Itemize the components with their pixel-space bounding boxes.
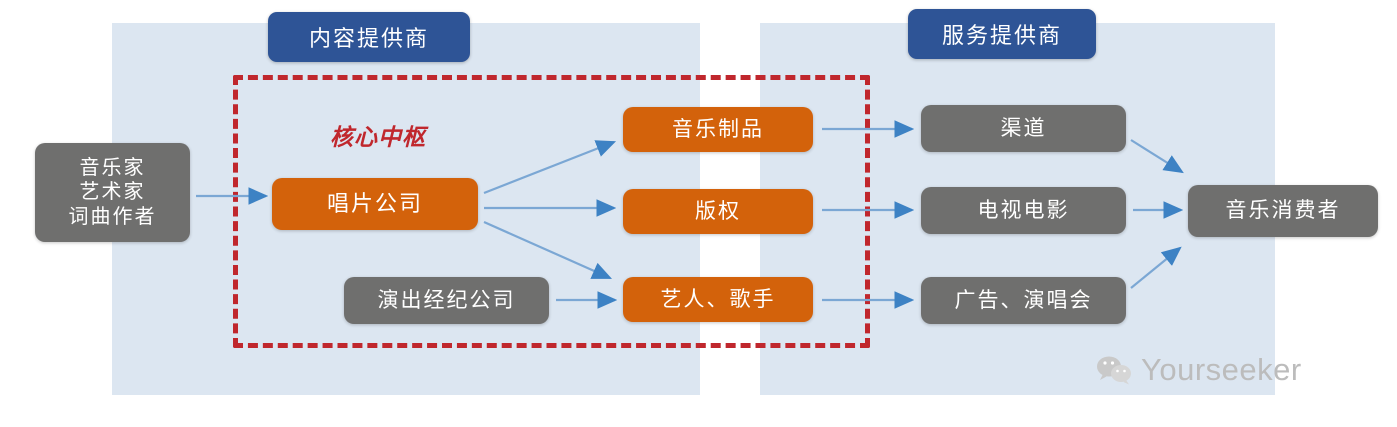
watermark: Yourseeker (1096, 352, 1302, 388)
node-ad-concert[interactable]: 广告、演唱会 (921, 277, 1126, 324)
node-creators-line-1: 音乐家 (80, 156, 146, 180)
node-music-consumers[interactable]: 音乐消费者 (1188, 185, 1378, 237)
header-service-provider[interactable]: 服务提供商 (908, 9, 1096, 59)
node-creators[interactable]: 音乐家 艺术家 词曲作者 (35, 143, 190, 242)
node-copyright-text: 版权 (695, 199, 741, 225)
node-music-products[interactable]: 音乐制品 (623, 107, 813, 152)
wechat-icon (1096, 355, 1132, 385)
core-hub-label: 核心中枢 (330, 118, 426, 152)
node-performance-agency[interactable]: 演出经纪公司 (344, 277, 549, 324)
node-artists-singers[interactable]: 艺人、歌手 (623, 277, 813, 322)
node-creators-line-2: 艺术家 (80, 180, 146, 204)
watermark-text: Yourseeker (1141, 352, 1302, 388)
node-tv-film[interactable]: 电视电影 (921, 187, 1126, 234)
node-copyright[interactable]: 版权 (623, 189, 813, 234)
node-tv-film-text: 电视电影 (978, 198, 1070, 224)
node-label-company-text: 唱片公司 (327, 191, 423, 218)
node-performance-agency-text: 演出经纪公司 (378, 288, 516, 314)
node-music-products-text: 音乐制品 (672, 117, 764, 143)
header-content-provider[interactable]: 内容提供商 (268, 12, 470, 62)
node-artists-singers-text: 艺人、歌手 (661, 287, 776, 313)
node-music-consumers-text: 音乐消费者 (1226, 198, 1341, 224)
diagram-canvas: 核心中枢 内容提供商 服务提供商 (0, 0, 1397, 427)
node-channel[interactable]: 渠道 (921, 105, 1126, 152)
node-creators-line-3: 词曲作者 (69, 205, 157, 229)
node-ad-concert-text: 广告、演唱会 (955, 288, 1093, 314)
node-channel-text: 渠道 (1001, 116, 1047, 142)
node-label-company[interactable]: 唱片公司 (272, 178, 478, 230)
